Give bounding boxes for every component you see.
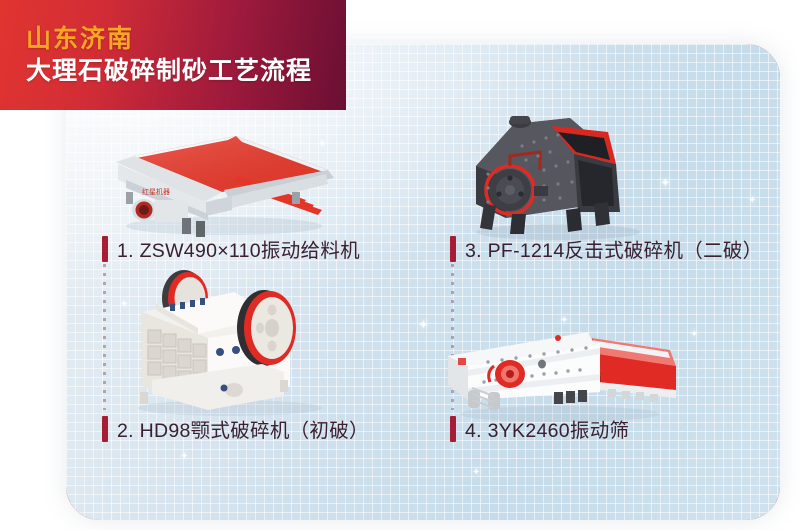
item-2-jaw-crusher[interactable]: 2. HD98颚式破碎机（初破） <box>102 414 369 443</box>
item-label-text: 2. HD98颚式破碎机（初破） <box>117 414 369 443</box>
item-4-vibrating-screen[interactable]: 4. 3YK2460振动筛 <box>450 414 629 443</box>
label-marker-bar <box>450 416 456 442</box>
label-marker-bar <box>102 416 108 442</box>
item-label-text: 4. 3YK2460振动筛 <box>465 414 629 443</box>
label-marker-bar <box>450 236 456 262</box>
machine-image-impact-crusher <box>448 108 668 240</box>
item-label-row: 3. PF-1214反击式破碎机（二破） <box>450 234 762 263</box>
item-label-text: 1. ZSW490×110振动给料机 <box>117 234 360 263</box>
machine-image-jaw-crusher <box>112 268 342 418</box>
item-label-row: 2. HD98颚式破碎机（初破） <box>102 414 369 443</box>
banner-title: 大理石破碎制砂工艺流程 <box>26 56 346 87</box>
item-label-text: 3. PF-1214反击式破碎机（二破） <box>465 234 762 263</box>
item-1-feeder[interactable]: 1. ZSW490×110振动给料机 <box>102 234 360 263</box>
svg-text:红星机器: 红星机器 <box>142 187 170 196</box>
item-3-impact-crusher[interactable]: 3. PF-1214反击式破碎机（二破） <box>450 234 762 263</box>
item-label-row: 1. ZSW490×110振动给料机 <box>102 234 360 263</box>
banner-subtitle: 山东济南 <box>26 24 346 55</box>
dotted-connector-left <box>103 264 106 410</box>
label-marker-bar <box>102 236 108 262</box>
item-label-row: 4. 3YK2460振动筛 <box>450 414 629 443</box>
machine-image-vibrating-screen <box>432 296 682 422</box>
title-banner: 山东济南 大理石破碎制砂工艺流程 <box>0 0 346 110</box>
infographic-canvas: ✦ ✦ ✦ ✦ ✦ ✦ ✦ ✦ ✦ ✦ <box>0 0 800 530</box>
machine-image-vibrating-feeder: 红星机器 <box>96 118 346 238</box>
